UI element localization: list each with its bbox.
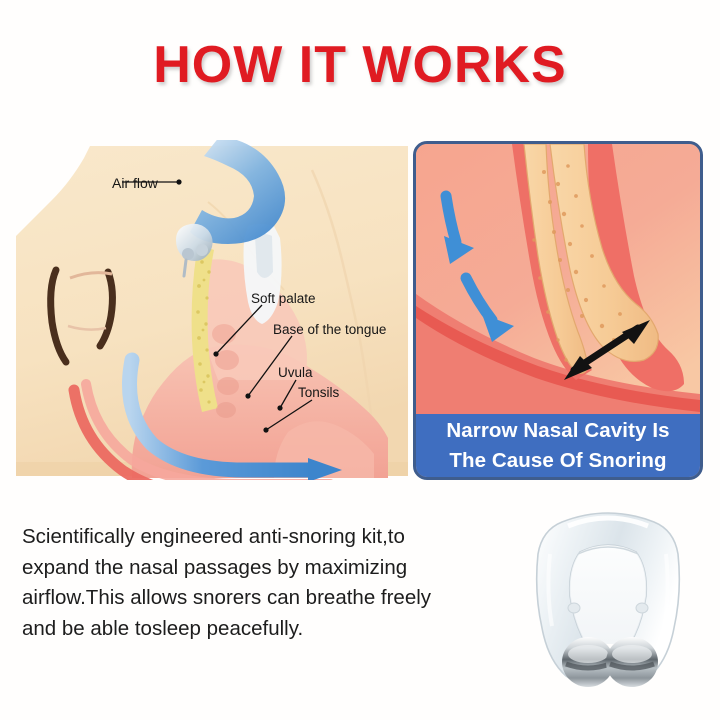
description-line-2: expand the nasal passages by maximizing [22,553,492,584]
page-title: HOW IT WORKS [0,38,720,93]
description-line-1: Scientifically engineered anti-snoring k… [22,522,492,553]
magnet-right [606,637,658,687]
label-air-flow: Air flow [112,176,158,190]
description-paragraph: Scientifically engineered anti-snoring k… [22,522,492,644]
narrow-nasal-cavity-panel: Narrow Nasal Cavity Is The Cause Of Snor… [413,141,703,480]
head-cross-section-illustration [12,140,412,480]
caption-line-1: Narrow Nasal Cavity Is [446,416,669,445]
product-image-nose-clip [508,496,708,694]
label-base-of-the-tongue: Base of the tongue [273,323,386,337]
description-line-4: and be able tosleep peacefully. [22,614,492,645]
label-tonsils: Tonsils [298,386,339,400]
caption-line-2: The Cause Of Snoring [449,446,666,475]
label-uvula: Uvula [278,366,313,380]
label-soft-palate: Soft palate [251,292,316,306]
nasal-cavity-cross-section [416,144,700,420]
how-it-works-infographic: HOW IT WORKS [0,0,720,720]
panel-caption: Narrow Nasal Cavity Is The Cause Of Snor… [416,414,700,477]
description-line-3: airflow.This allows snorers can breathe … [22,583,492,614]
